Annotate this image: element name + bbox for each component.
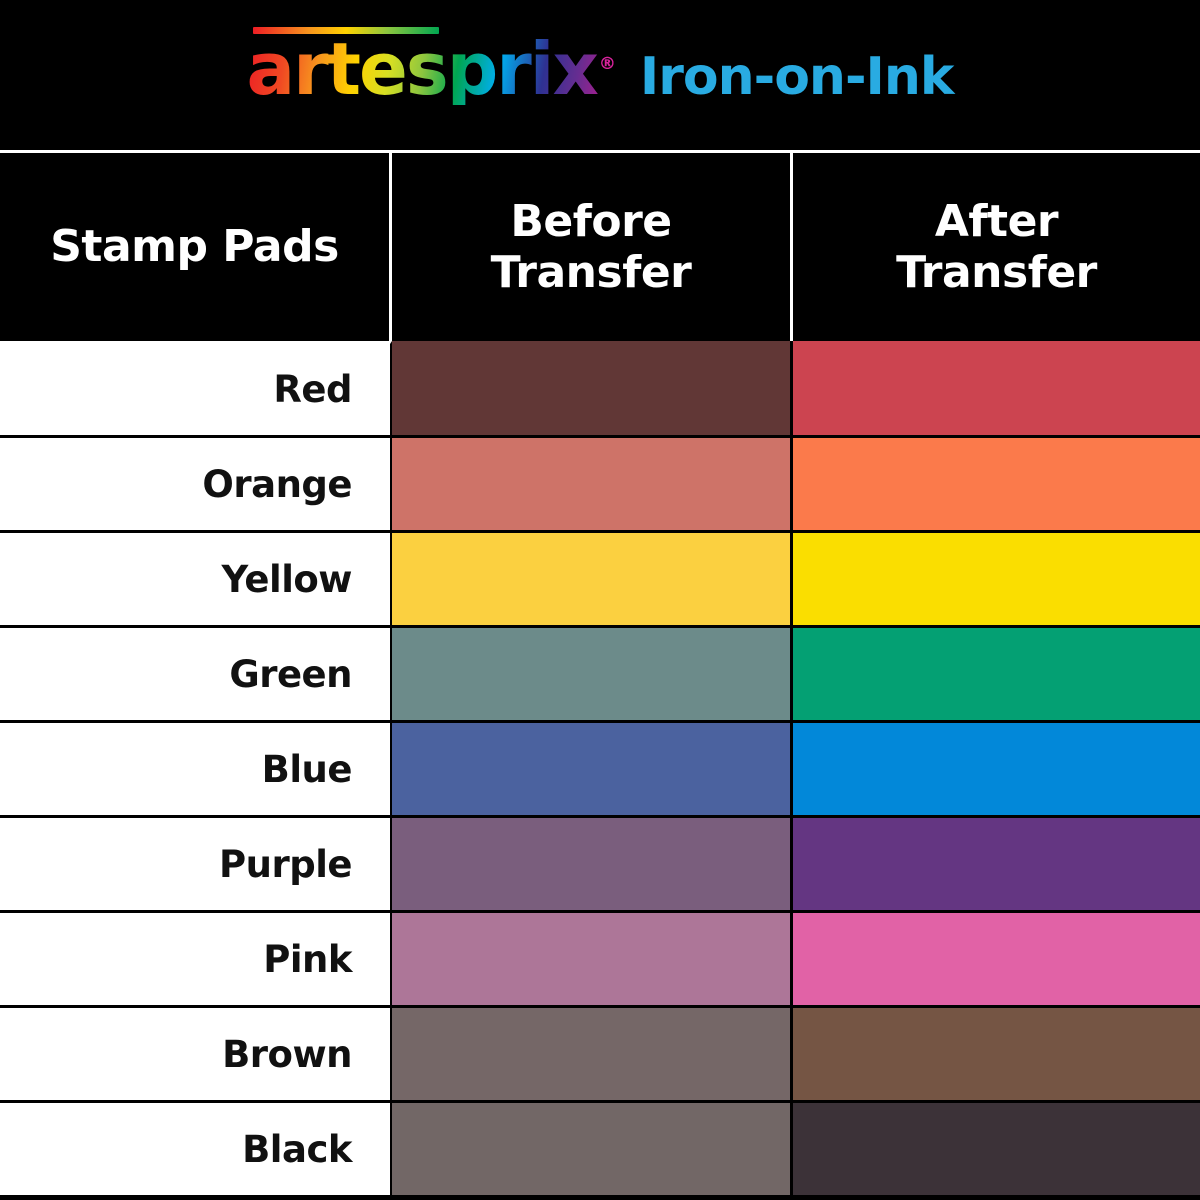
stamp-pad-name-label: Red: [273, 368, 352, 411]
cell-stamp-pad-name: Orange: [0, 436, 392, 531]
table-row: Orange: [0, 436, 1200, 531]
swatch-before-transfer: [392, 626, 793, 721]
table-row: Blue: [0, 721, 1200, 816]
swatch-after-transfer: [793, 816, 1200, 911]
swatch-before-transfer: [392, 1006, 793, 1101]
swatch-after-transfer: [793, 1101, 1200, 1196]
cell-stamp-pad-name: Pink: [0, 911, 392, 1006]
stamp-pad-name-label: Brown: [222, 1033, 352, 1076]
stamp-pad-name-label: Orange: [202, 463, 352, 506]
swatch-after-transfer: [793, 341, 1200, 436]
cell-stamp-pad-name: Yellow: [0, 531, 392, 626]
tagline-text: Iron-on-Ink: [640, 51, 954, 103]
color-chart-page: artesprix® Iron-on-Ink Stamp Pads Before…: [0, 0, 1200, 1200]
stamp-pad-name-label: Purple: [219, 843, 352, 886]
after-line-2: Transfer: [896, 247, 1097, 298]
swatch-before-transfer: [392, 816, 793, 911]
swatch-after-transfer: [793, 1006, 1200, 1101]
swatch-before-transfer: [392, 531, 793, 626]
table-row: Red: [0, 341, 1200, 436]
artesprix-wordmark: artesprix®: [247, 33, 614, 105]
column-header-stamp-pads-label: Stamp Pads: [50, 221, 339, 272]
cell-stamp-pad-name: Green: [0, 626, 392, 721]
column-header-before-transfer: BeforeTransfer: [392, 153, 793, 341]
table-row: Yellow: [0, 531, 1200, 626]
table-row: Green: [0, 626, 1200, 721]
stamp-pad-name-label: Pink: [263, 938, 352, 981]
stamp-pad-name-label: Yellow: [222, 558, 352, 601]
column-header-stamp-pads: Stamp Pads: [0, 153, 392, 341]
swatch-after-transfer: [793, 626, 1200, 721]
column-header-after-transfer: AfterTransfer: [793, 153, 1200, 341]
logo-header: artesprix® Iron-on-Ink: [0, 0, 1200, 150]
swatch-after-transfer: [793, 436, 1200, 531]
stamp-pad-name-label: Black: [242, 1128, 352, 1171]
column-header-before-transfer-label: BeforeTransfer: [491, 196, 692, 298]
stamp-pad-name-label: Blue: [262, 748, 352, 791]
table-row: Brown: [0, 1006, 1200, 1101]
before-line-2: Transfer: [491, 247, 692, 298]
brand-name-text: artesprix: [247, 27, 597, 111]
stamp-pad-name-label: Green: [229, 653, 352, 696]
swatch-after-transfer: [793, 721, 1200, 816]
table-row: Purple: [0, 816, 1200, 911]
swatch-after-transfer: [793, 911, 1200, 1006]
swatch-after-transfer: [793, 531, 1200, 626]
registered-trademark-icon: ®: [599, 54, 614, 74]
brand-overline-bar: [253, 27, 439, 34]
table-header-row: Stamp Pads BeforeTransfer AfterTransfer: [0, 153, 1200, 341]
table-body: RedOrangeYellowGreenBluePurplePinkBrownB…: [0, 341, 1200, 1196]
cell-stamp-pad-name: Red: [0, 341, 392, 436]
cell-stamp-pad-name: Black: [0, 1101, 392, 1196]
comparison-table: Stamp Pads BeforeTransfer AfterTransfer …: [0, 150, 1200, 1200]
table-row: Black: [0, 1101, 1200, 1196]
logo-wrap: artesprix® Iron-on-Ink: [247, 33, 954, 105]
swatch-before-transfer: [392, 911, 793, 1006]
cell-stamp-pad-name: Brown: [0, 1006, 392, 1101]
column-header-after-transfer-label: AfterTransfer: [896, 196, 1097, 298]
cell-stamp-pad-name: Blue: [0, 721, 392, 816]
swatch-before-transfer: [392, 721, 793, 816]
table-row: Pink: [0, 911, 1200, 1006]
swatch-before-transfer: [392, 436, 793, 531]
before-line-1: Before: [510, 196, 671, 247]
cell-stamp-pad-name: Purple: [0, 816, 392, 911]
after-line-1: After: [935, 196, 1058, 247]
swatch-before-transfer: [392, 1101, 793, 1196]
swatch-before-transfer: [392, 341, 793, 436]
